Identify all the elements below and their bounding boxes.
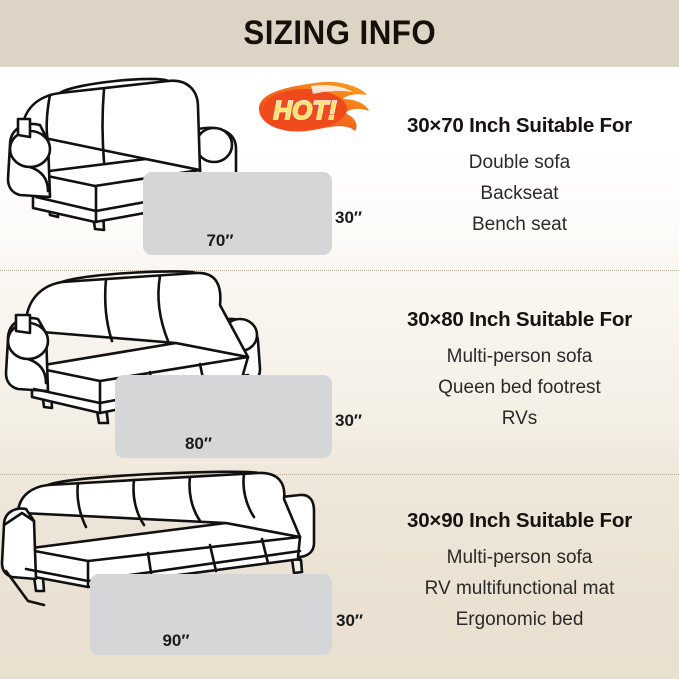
- header-banner: SIZING INFO: [0, 0, 679, 67]
- measure-height-label-30: 30″: [336, 611, 363, 631]
- measure-height-label-30: 30″: [335, 208, 362, 228]
- measure-rect-30x80: 80″ 30″: [115, 375, 332, 458]
- sizing-row-30x90: 90″ 30″ 30×90 Inch Suitable For Multi-pe…: [0, 475, 679, 679]
- use-item: Multi-person sofa: [360, 542, 679, 573]
- use-list-30x90: Multi-person sofa RV multifunctional mat…: [360, 542, 679, 635]
- use-item: Ergonomic bed: [360, 604, 679, 635]
- use-item: Queen bed footrest: [360, 372, 679, 403]
- illustration-30x90: 90″ 30″: [0, 475, 360, 679]
- use-item: RV multifunctional mat: [360, 573, 679, 604]
- section-title-30x70: 30×70 Inch Suitable For: [360, 114, 679, 138]
- info-30x80: 30×80 Inch Suitable For Multi-person sof…: [360, 271, 679, 474]
- use-item: Backseat: [360, 178, 679, 209]
- illustration-30x70: 70″ 30″: [0, 67, 360, 270]
- info-30x70: 30×70 Inch Suitable For Double sofa Back…: [360, 67, 679, 270]
- hot-badge-label: HOT!: [273, 95, 337, 125]
- use-list-30x80: Multi-person sofa Queen bed footrest RVs: [360, 341, 679, 434]
- section-title-30x80: 30×80 Inch Suitable For: [360, 308, 679, 332]
- illustration-30x80: 80″ 30″: [0, 271, 360, 474]
- sizing-row-30x70: 70″ 30″: [0, 67, 679, 270]
- measure-width-label-80: 80″: [135, 434, 262, 454]
- measure-width-label-70: 70″: [163, 231, 277, 251]
- measure-rect-30x90: 90″ 30″: [90, 574, 332, 655]
- hot-badge: HOT!: [255, 79, 373, 139]
- measure-rect-30x70: 70″ 30″: [143, 172, 332, 255]
- measure-width-label-90: 90″: [110, 631, 242, 651]
- section-title-30x90: 30×90 Inch Suitable For: [360, 509, 679, 533]
- sizing-info-infographic: SIZING INFO: [0, 0, 679, 679]
- use-item: Double sofa: [360, 147, 679, 178]
- measure-height-label-30: 30″: [335, 411, 362, 431]
- use-item: Multi-person sofa: [360, 341, 679, 372]
- use-list-30x70: Double sofa Backseat Bench seat: [360, 147, 679, 240]
- info-30x90: 30×90 Inch Suitable For Multi-person sof…: [360, 475, 679, 679]
- sizing-row-30x80: 80″ 30″ 30×80 Inch Suitable For Multi-pe…: [0, 271, 679, 474]
- page-title: SIZING INFO: [243, 14, 436, 53]
- use-item: RVs: [360, 403, 679, 434]
- use-item: Bench seat: [360, 209, 679, 240]
